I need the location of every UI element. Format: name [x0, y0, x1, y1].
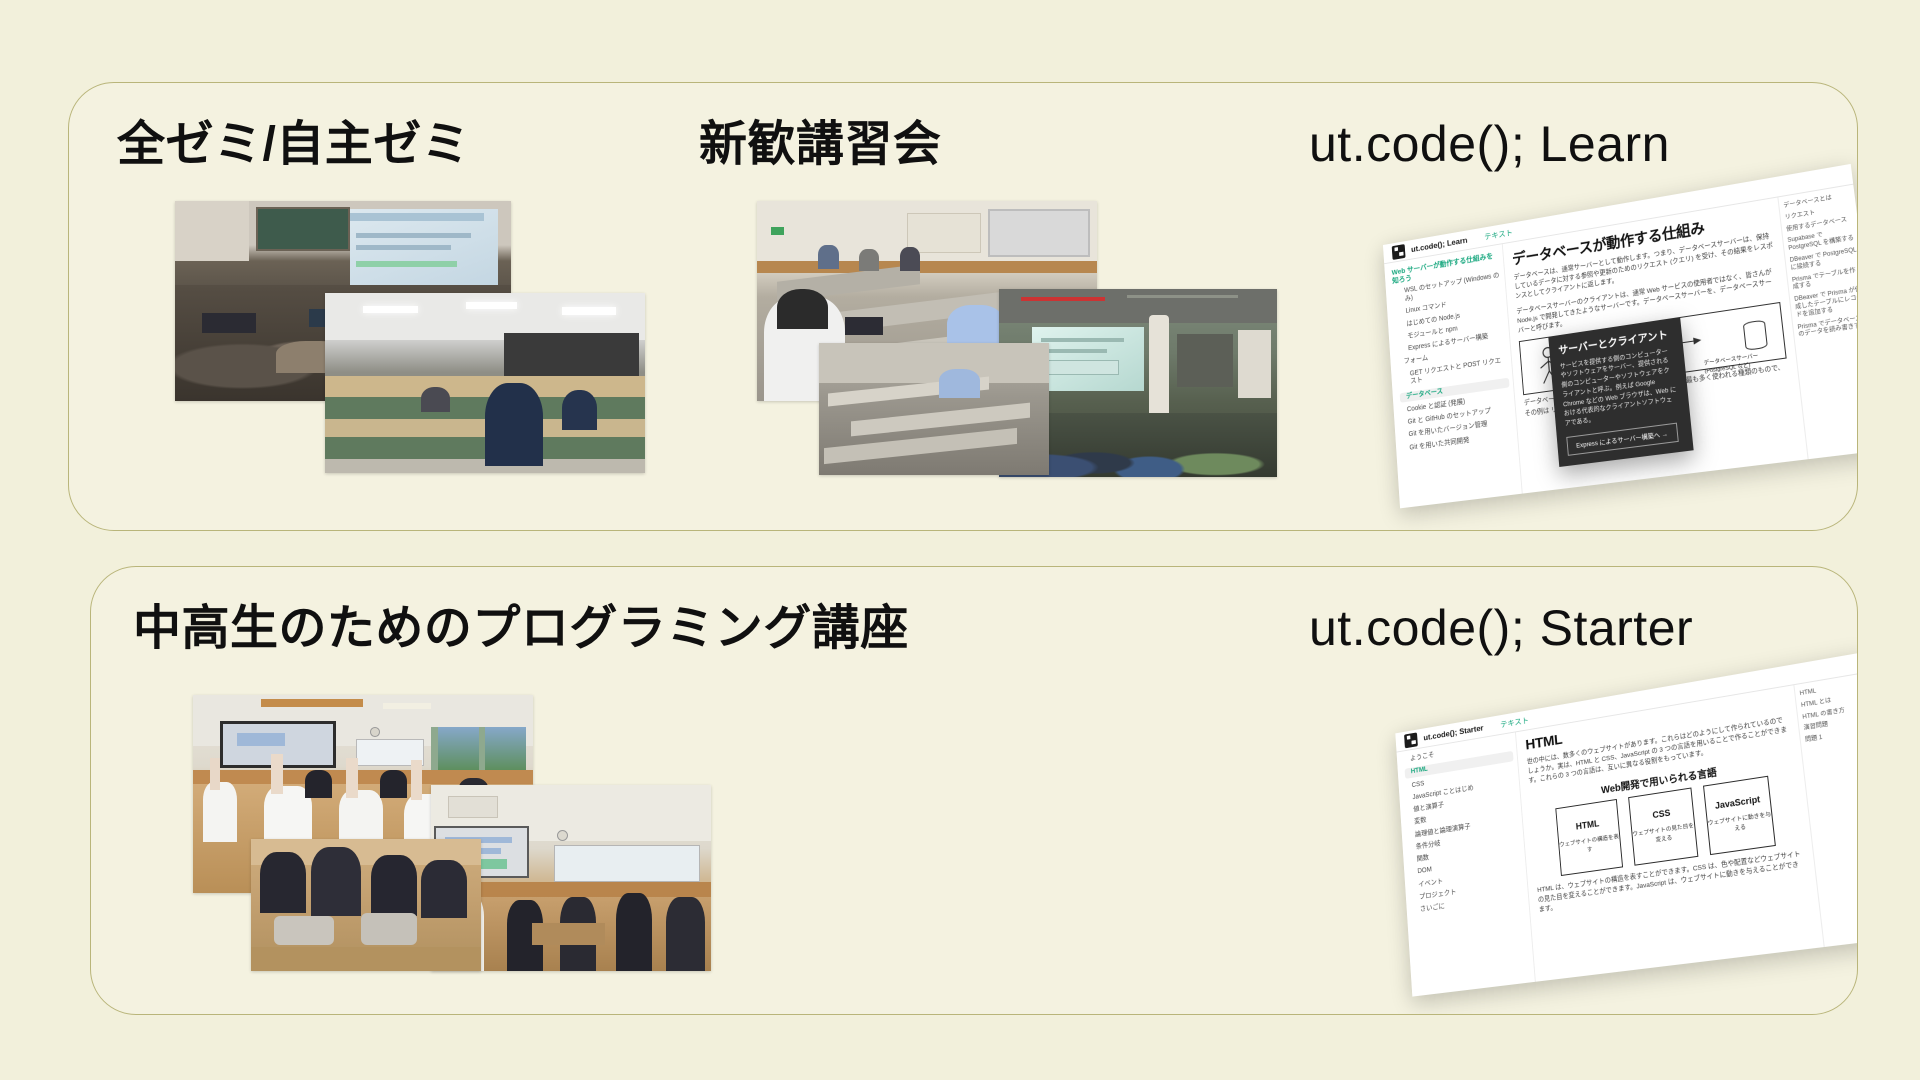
- card-title-chukosei: 中高生のためのプログラミング講座: [133, 605, 909, 653]
- language-description: ウェブサイトの構造を表す: [1559, 833, 1620, 859]
- photo-lecture-hall-green-seats: [325, 293, 645, 473]
- tooltip-next-button[interactable]: Express によるサーバー構築へ →: [1566, 422, 1679, 455]
- language-box-css: CSS ウェブサイトの見た目を変える: [1628, 787, 1698, 865]
- learn-nav-text[interactable]: テキスト: [1484, 227, 1513, 242]
- collage-shinkan: [699, 193, 1279, 483]
- card-title-shinkan: 新歓講習会: [699, 121, 941, 169]
- starter-nav-text[interactable]: テキスト: [1500, 715, 1529, 730]
- photo-school-students-desks: [251, 839, 481, 971]
- learn-sidebar[interactable]: Web サーバーが動作する仕組みを知ろう WSL のセットアップ (Window…: [1384, 244, 1523, 508]
- tooltip-body: サービスを提供する側のコンピューターやソフトウェアをサーバー、提供される側のコン…: [1559, 346, 1679, 429]
- language-name: HTML: [1575, 818, 1599, 831]
- starter-main: HTML 世の中には、数多くのウェブサイトがあります。これらはどのようにして作ら…: [1516, 685, 1824, 981]
- screenshot-learn-wrap: ut.code(); Learn テキスト Web サーバーが動作する仕組みを知…: [1369, 201, 1858, 481]
- language-name: CSS: [1652, 808, 1671, 820]
- card-title-zemi: 全ゼミ/自主ゼミ: [117, 121, 470, 169]
- right-rail-item[interactable]: DBeaver で Prisma が作成したテーブルにレコードを追加する: [1794, 287, 1858, 321]
- screenshot-learn[interactable]: ut.code(); Learn テキスト Web サーバーが動作する仕組みを知…: [1383, 164, 1858, 508]
- page-root: 全ゼミ/自主ゼミ 新歓講習会 ut.code(); Learn: [0, 0, 1920, 1080]
- screenshot-starter-wrap: ut.code(); Starter テキスト ようこそ HTML CSS Ja…: [1381, 689, 1858, 969]
- photo-classroom-desks-rows: [819, 343, 1049, 475]
- screenshot-starter[interactable]: ut.code(); Starter テキスト ようこそ HTML CSS Ja…: [1395, 651, 1858, 996]
- card-starter: 中高生のためのプログラミング講座 ut.code(); Starter: [90, 566, 1858, 1015]
- database-cylinder-icon: [1743, 320, 1768, 351]
- learn-tooltip-card: サーバーとクライアント サービスを提供する側のコンピューターやソフトウェアをサー…: [1548, 317, 1694, 467]
- language-description: ウェブサイトに動きを与える: [1707, 811, 1772, 838]
- collage-zemi: [109, 193, 669, 483]
- collage-chukosei: [131, 687, 711, 977]
- language-box-javascript: JavaScript ウェブサイトに動きを与える: [1703, 775, 1776, 854]
- utcode-logo-icon: [1392, 244, 1406, 260]
- utcode-logo-icon: [1404, 732, 1418, 748]
- starter-sidebar[interactable]: ようこそ HTML CSS JavaScript ことはじめ 値と演算子 変数 …: [1397, 732, 1537, 996]
- card-title-starter: ut.code(); Starter: [1309, 603, 1693, 653]
- card-outreach: 全ゼミ/自主ゼミ 新歓講習会 ut.code(); Learn: [68, 82, 1858, 531]
- learn-main: データベースが動作する仕組み データベースは、通常サーバーとして動作します。つま…: [1503, 198, 1808, 494]
- language-box-html: HTML ウェブサイトの構造を表す: [1555, 799, 1623, 876]
- language-description: ウェブサイトの見た目を変える: [1632, 822, 1695, 848]
- language-name: JavaScript: [1715, 794, 1761, 811]
- card-title-learn: ut.code(); Learn: [1309, 119, 1670, 169]
